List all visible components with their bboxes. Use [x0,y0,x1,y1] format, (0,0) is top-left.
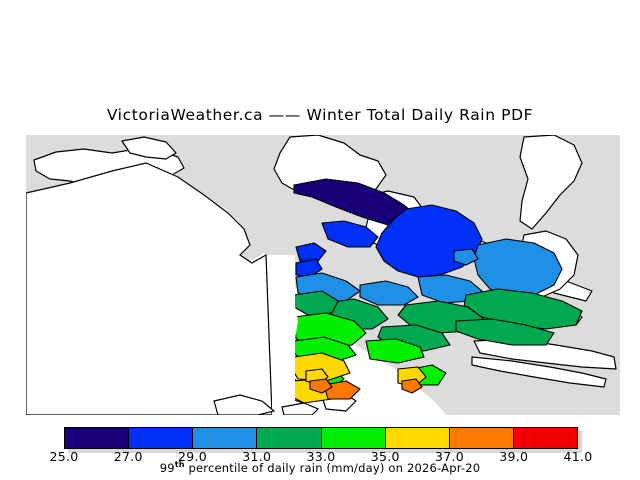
colorbar-swatch-27-29 [129,428,193,448]
caption-superscript: th [175,460,185,469]
chart-title: VictoriaWeather.ca —— Winter Total Daily… [0,106,640,124]
colorbar-swatch-31-33 [257,428,321,448]
colorbar-swatches [64,427,578,449]
map-canvas [26,135,620,415]
chart-caption: 99th percentile of daily rain (mm/day) o… [0,460,640,475]
map-svg [26,135,620,415]
colorbar-swatch-29-31 [193,428,257,448]
colorbar-swatch-33-35 [322,428,386,448]
colorbar [64,427,578,449]
colorbar-swatch-25-27 [65,428,129,448]
colorbar-swatch-39-41 [514,428,577,448]
colorbar-swatch-37-39 [450,428,514,448]
colorbar-swatch-35-37 [386,428,450,448]
caption-suffix: percentile of daily rain (mm/day) on 202… [185,461,481,475]
caption-prefix: 99 [160,461,175,475]
